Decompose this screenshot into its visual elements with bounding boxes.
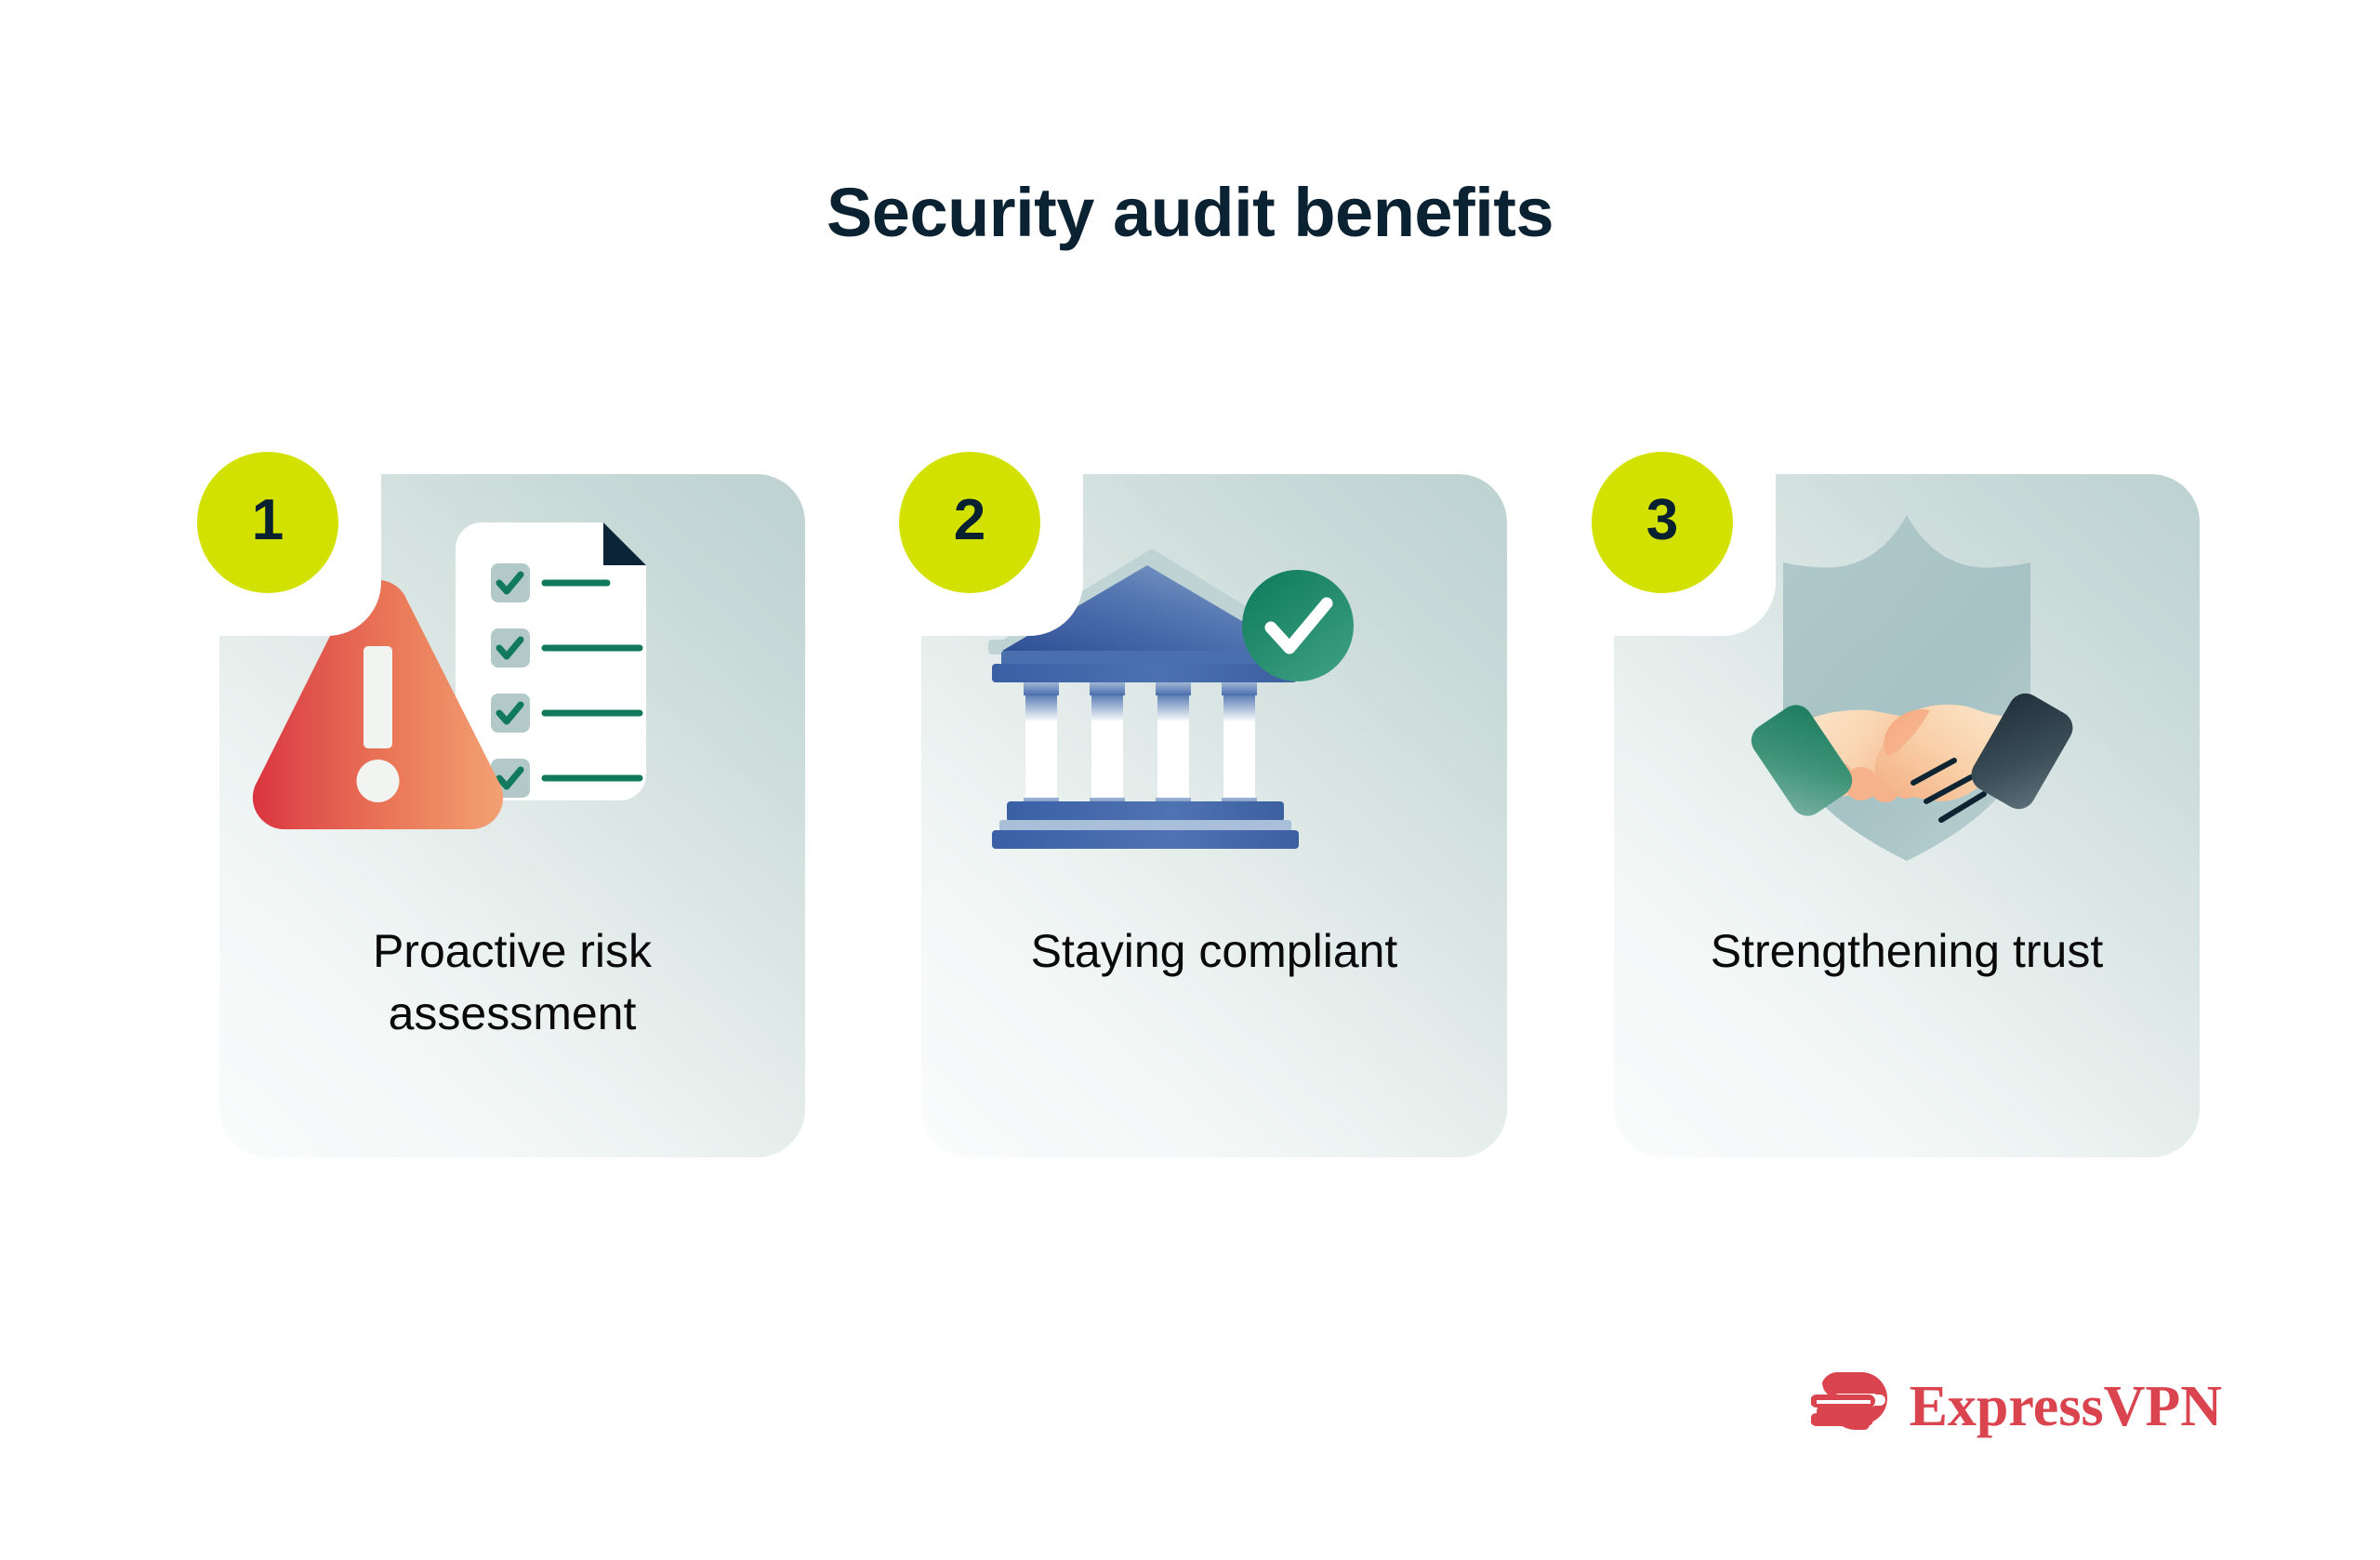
card-number-badge: 3 <box>1592 452 1733 593</box>
card-number-badge: 2 <box>899 452 1040 593</box>
benefit-card-staying-compliant[interactable]: 2 Staying compliant <box>921 474 1507 1157</box>
expressvpn-logo[interactable]: ExpressVPN <box>1811 1367 2222 1446</box>
card-caption: Staying compliant <box>953 920 1475 983</box>
card-caption: Strengthening trust <box>1646 920 2168 983</box>
benefit-card-strengthening-trust[interactable]: 3 Strengthening trust <box>1614 474 2200 1157</box>
columns <box>1024 682 1257 811</box>
expressvpn-e-mark-icon <box>1811 1367 1893 1446</box>
card-caption: Proactive risk assessment <box>251 920 773 1044</box>
stepped-base <box>992 801 1299 849</box>
benefit-cards-row: 1 Proactive risk assessment <box>219 474 2181 1162</box>
verified-check-badge <box>1242 570 1354 681</box>
expressvpn-wordmark: ExpressVPN <box>1910 1378 2222 1435</box>
card-number-badge: 1 <box>197 452 338 593</box>
benefit-card-proactive-risk-assessment[interactable]: 1 Proactive risk assessment <box>219 474 805 1157</box>
page-title: Security audit benefits <box>0 175 2380 250</box>
